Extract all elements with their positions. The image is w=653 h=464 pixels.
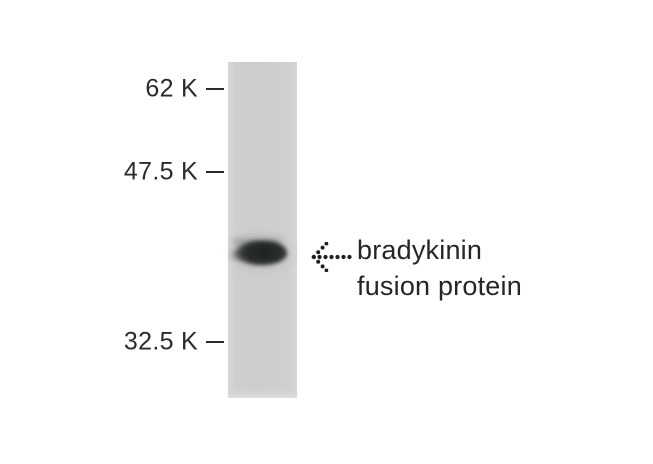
dotted-arrow-left-icon bbox=[305, 242, 353, 272]
lane-sheen bbox=[228, 62, 297, 398]
marker-62k-label: 62 K bbox=[145, 77, 198, 102]
lane-bottom-fade bbox=[228, 388, 297, 398]
annotation-caption: bradykinin fusion protein bbox=[357, 232, 522, 304]
marker-47-5k-label: 47.5 K bbox=[124, 160, 198, 185]
gel-lane bbox=[228, 62, 297, 398]
annotation-line-1: bradykinin bbox=[357, 232, 522, 268]
marker-62k-tick bbox=[206, 88, 224, 90]
marker-32-5k-tick bbox=[206, 341, 224, 343]
western-blot-figure: 62 K 47.5 K 32.5 K bbox=[0, 0, 653, 464]
marker-32-5k-label: 32.5 K bbox=[124, 330, 198, 355]
annotation-line-2: fusion protein bbox=[357, 268, 522, 304]
marker-47-5k-tick bbox=[206, 171, 224, 173]
band-annotation: bradykinin fusion protein bbox=[305, 232, 635, 304]
